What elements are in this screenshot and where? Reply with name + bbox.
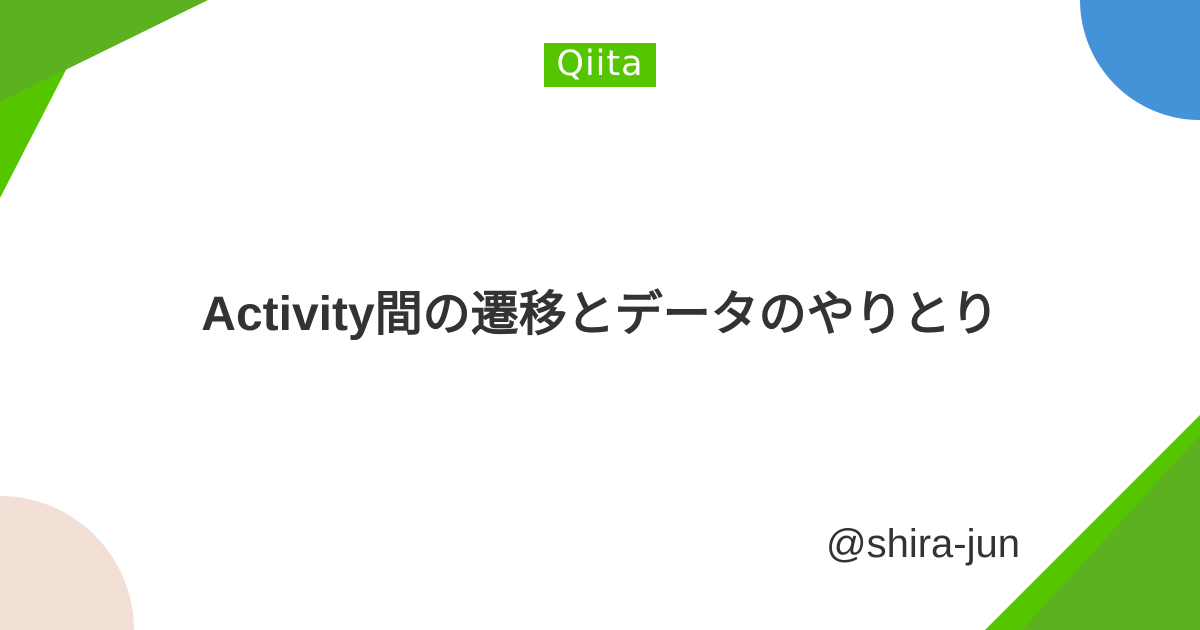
author-container: @shira-jun (826, 520, 1020, 568)
qiita-logo-text: Qiita (556, 47, 643, 82)
bottom-right-green-triangle-secondary (1022, 435, 1200, 630)
article-title-container: Activity間の遷移とデータのやりとり (96, 200, 1104, 430)
author-handle: @shira-jun (826, 520, 1020, 568)
bottom-left-peach-quarter-circle (0, 496, 134, 630)
qiita-ogp-card: Qiita Activity間の遷移とデータのやりとり @shira-jun (0, 0, 1200, 630)
top-left-green-triangle-primary (0, 0, 102, 198)
page-title: Activity間の遷移とデータのやりとり (201, 280, 998, 350)
qiita-logo-badge: Qiita (544, 43, 655, 87)
brand-logo-container: Qiita (0, 43, 1200, 87)
